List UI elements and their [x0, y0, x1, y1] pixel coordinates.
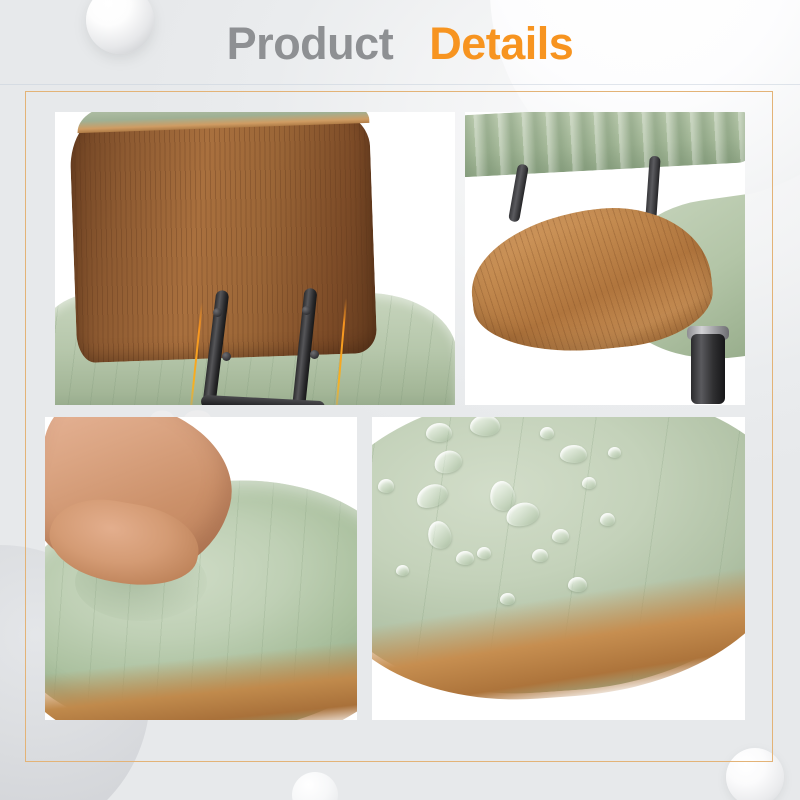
screw-icon	[222, 352, 231, 361]
panel-grid	[0, 0, 800, 800]
water-droplet	[378, 479, 394, 493]
ribbed-backrest	[465, 112, 745, 178]
water-droplet	[582, 477, 596, 489]
feature-panel-4	[372, 417, 745, 720]
soft-cushion-illustration	[45, 417, 357, 720]
screw-icon	[213, 308, 222, 317]
water-droplet	[552, 529, 569, 543]
water-droplet	[426, 423, 452, 442]
water-droplet	[470, 417, 500, 436]
wood-grain-illustration	[465, 112, 745, 405]
water-droplet	[396, 565, 409, 576]
infographic-canvas: Product Details	[0, 0, 800, 800]
water-droplet	[560, 445, 587, 463]
waterproof-illustration	[372, 417, 745, 720]
page-title-main: Product	[227, 18, 394, 69]
feature-panel-2	[465, 112, 745, 405]
water-droplet	[477, 547, 491, 559]
water-droplet	[532, 549, 548, 562]
water-droplet	[456, 551, 474, 565]
seat-wood-rim	[372, 417, 745, 713]
water-droplet	[500, 593, 515, 605]
page-title: Product Details	[0, 18, 800, 70]
screw-icon	[302, 306, 311, 315]
water-droplet	[600, 513, 615, 526]
gas-cylinder	[691, 334, 725, 404]
screw-icon	[310, 350, 319, 359]
water-droplet	[540, 427, 554, 439]
water-droplet	[568, 577, 587, 592]
page-title-accent: Details	[429, 18, 573, 69]
water-droplet	[608, 447, 621, 458]
feature-panel-3	[45, 417, 357, 720]
chair-back-illustration	[55, 112, 455, 405]
feature-panel-1	[55, 112, 455, 405]
